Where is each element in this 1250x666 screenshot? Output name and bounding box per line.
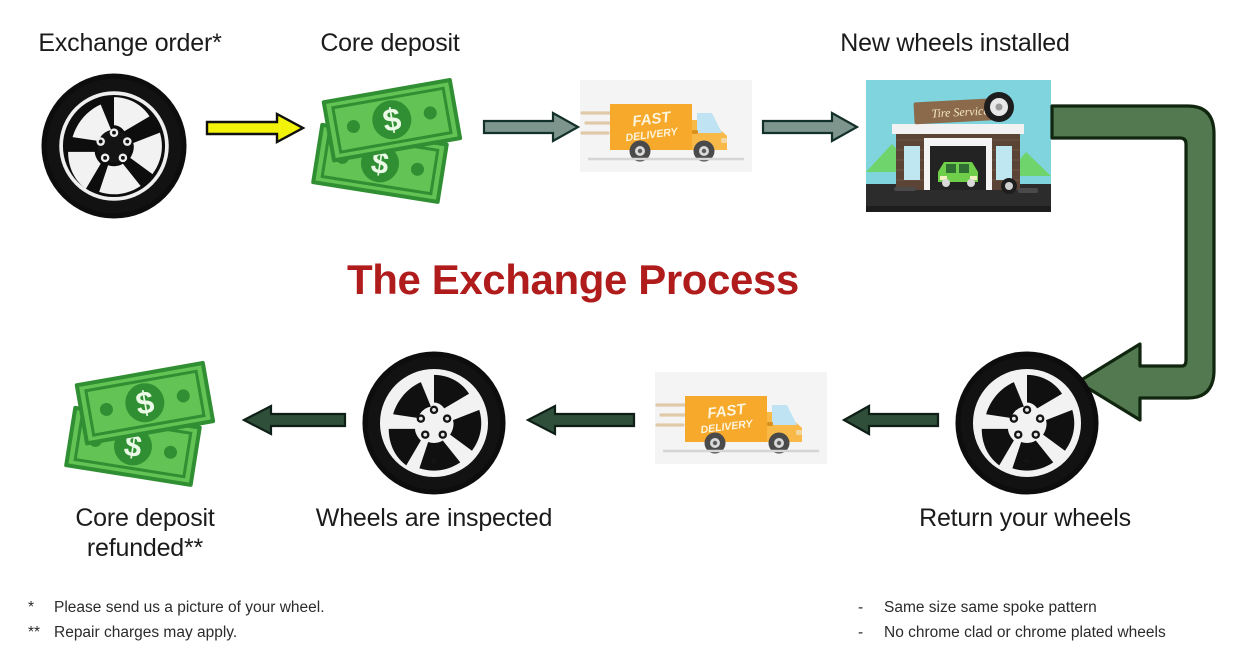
label-wheels-are-inspected: Wheels are inspected [288, 503, 580, 533]
label-core-deposit: Core deposit [285, 28, 495, 58]
label-core-deposit-refunded: Core deposit refunded** [25, 503, 265, 563]
footnote-text: Please send us a picture of your wheel. [54, 595, 325, 620]
tire-service-shop-icon: Tire Service [866, 80, 1051, 212]
delivery-van-icon-shipping-back: FAST DELIVERY [655, 372, 827, 464]
footnote-text: Repair charges may apply. [54, 620, 237, 645]
arrow-order-to-deposit [205, 112, 305, 144]
footnote-right-2: - No chrome clad or chrome plated wheels [858, 620, 1238, 645]
footnote-text: Same size same spoke pattern [884, 595, 1097, 620]
footnote-text: No chrome clad or chrome plated wheels [884, 620, 1166, 645]
footnote-mark: - [858, 595, 884, 620]
delivery-van-icon-shipping-out: FAST DELIVERY [580, 80, 752, 172]
footnote-right-1: - Same size same spoke pattern [858, 595, 1238, 620]
footnotes-right: - Same size same spoke pattern - No chro… [858, 595, 1238, 645]
label-exchange-order: Exchange order* [10, 28, 250, 58]
arrow-shipping-to-shop [762, 112, 858, 142]
arrow-return-to-shipping [843, 405, 939, 435]
footnote-mark: * [28, 595, 54, 620]
footnote-mark: ** [28, 620, 54, 645]
footnote-left-1: * Please send us a picture of your wheel… [28, 595, 428, 620]
exchange-process-diagram: Exchange order* Core deposit New wheels … [0, 0, 1250, 666]
wheel-icon-wheels-inspected [360, 350, 508, 496]
footnote-mark: - [858, 620, 884, 645]
arrow-deposit-to-shipping [483, 112, 579, 142]
footnotes-left: * Please send us a picture of your wheel… [28, 595, 428, 645]
label-return-your-wheels: Return your wheels [880, 503, 1170, 533]
arrow-inspect-to-refund [243, 405, 346, 435]
arrow-shipping-to-inspect [527, 405, 635, 435]
label-new-wheels-installed: New wheels installed [800, 28, 1110, 58]
money-icon-core-deposit: $ $ [305, 72, 480, 197]
money-icon-deposit-refunded: $ $ [58, 355, 233, 480]
wheel-icon-exchange-order [38, 72, 190, 220]
footnote-left-2: ** Repair charges may apply. [28, 620, 428, 645]
page-title: The Exchange Process [347, 256, 799, 304]
wheel-icon-return-wheels [953, 350, 1101, 496]
